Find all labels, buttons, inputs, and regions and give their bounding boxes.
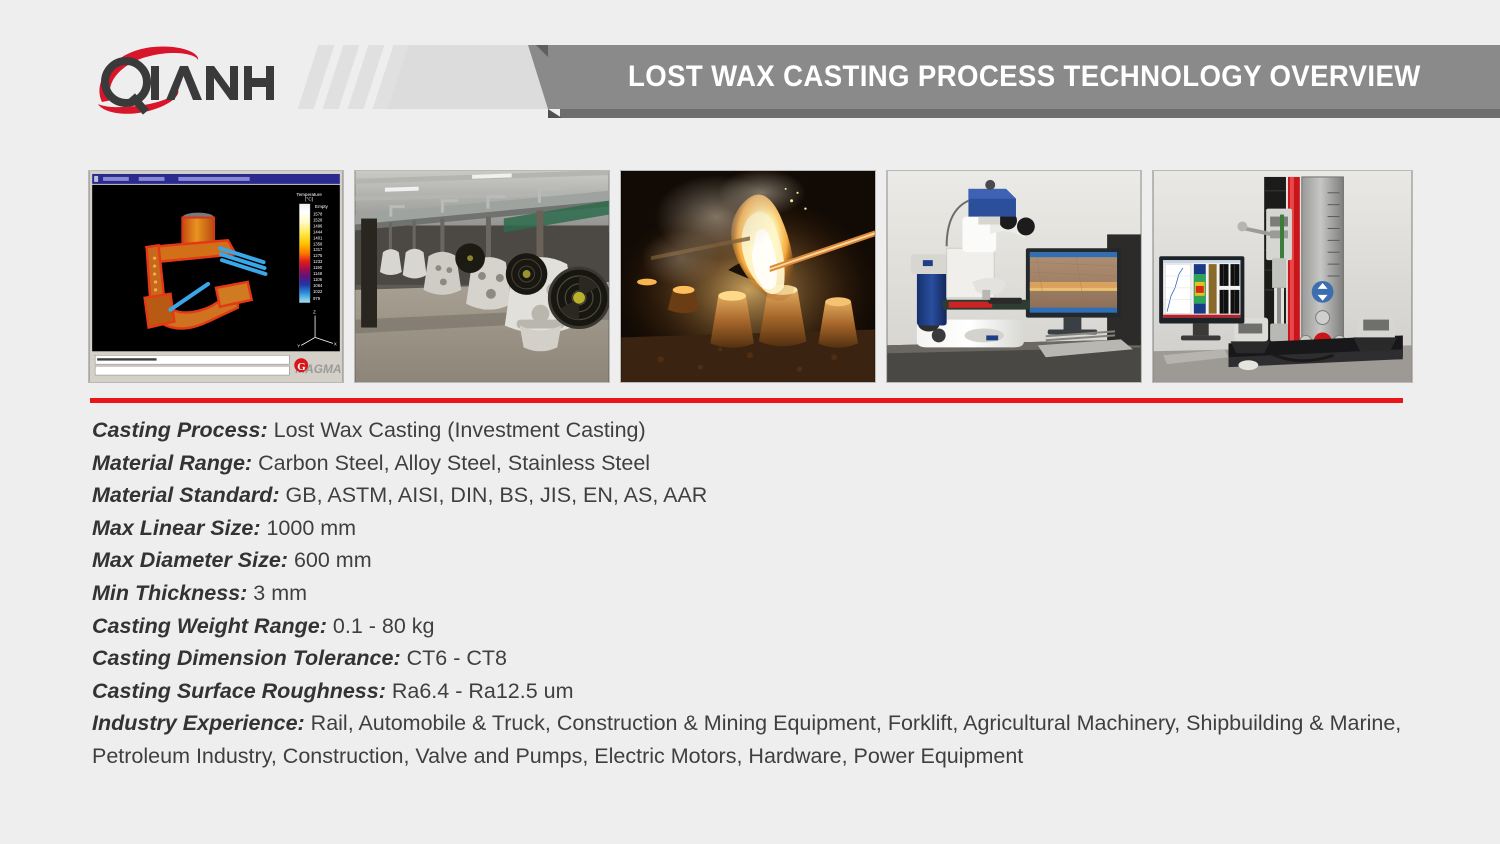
- spec-item-industry-experience: Industry Experience: Rail, Automobile & …: [92, 707, 1452, 772]
- spec-item-material-standard: Material Standard: GB, ASTM, AISI, DIN, …: [92, 479, 1452, 512]
- svg-text:979: 979: [313, 296, 321, 301]
- banner-fold-bottom: [548, 109, 562, 118]
- universal-testing-machine-photo: [1152, 170, 1413, 383]
- svg-text:1578: 1578: [313, 212, 323, 217]
- spec-label: Casting Weight Range:: [92, 614, 327, 638]
- svg-text:1233: 1233: [313, 259, 323, 264]
- spec-value: 0.1 - 80 kg: [327, 614, 435, 638]
- spec-value: GB, ASTM, AISI, DIN, BS, JIS, EN, AS, AA…: [280, 483, 708, 507]
- shell-drying-line-photo: [354, 170, 610, 383]
- spec-item-casting-weight-range: Casting Weight Range: 0.1 - 80 kg: [92, 610, 1452, 643]
- svg-text:1401: 1401: [313, 235, 323, 240]
- svg-text:1190: 1190: [313, 265, 323, 270]
- svg-text:1106: 1106: [313, 277, 323, 282]
- svg-text:Z: Z: [313, 310, 316, 315]
- spec-label: Max Diameter Size:: [92, 548, 288, 572]
- specification-list: Casting Process: Lost Wax Casting (Inves…: [92, 414, 1452, 773]
- spec-item-max-linear-size: Max Linear Size: 1000 mm: [92, 512, 1452, 545]
- spec-label: Casting Process:: [92, 418, 268, 442]
- svg-text:1148: 1148: [313, 271, 323, 276]
- spec-item-casting-surface-roughness: Casting Surface Roughness: Ra6.4 - Ra12.…: [92, 675, 1452, 708]
- svg-text:G: G: [297, 361, 306, 373]
- spec-value: Carbon Steel, Alloy Steel, Stainless Ste…: [252, 451, 650, 475]
- page-title: LOST WAX CASTING PROCESS TECHNOLOGY OVER…: [628, 45, 1421, 109]
- svg-text:1064: 1064: [313, 283, 323, 288]
- spec-label: Material Range:: [92, 451, 252, 475]
- spec-item-casting-process: Casting Process: Lost Wax Casting (Inves…: [92, 414, 1452, 447]
- spec-label: Industry Experience:: [92, 711, 305, 735]
- spec-item-max-diameter-size: Max Diameter Size: 600 mm: [92, 544, 1452, 577]
- metallurgical-microscope-photo: [886, 170, 1142, 383]
- svg-text:1022: 1022: [313, 289, 323, 294]
- spec-label: Casting Dimension Tolerance:: [92, 646, 401, 670]
- spec-value: CT6 - CT8: [401, 646, 507, 670]
- red-divider: [90, 398, 1403, 403]
- spec-label: Min Thickness:: [92, 581, 247, 605]
- svg-text:1496: 1496: [313, 223, 323, 228]
- banner-shadow: [560, 109, 1500, 118]
- page-header: LOST WAX CASTING PROCESS TECHNOLOGY OVER…: [0, 0, 1500, 145]
- svg-text:Empty: Empty: [315, 204, 329, 209]
- spec-label: Max Linear Size:: [92, 516, 260, 540]
- svg-text:[°C]: [°C]: [305, 197, 313, 202]
- spec-value: 1000 mm: [260, 516, 356, 540]
- svg-text:Y: Y: [297, 343, 300, 348]
- spec-value: Lost Wax Casting (Investment Casting): [268, 418, 646, 442]
- spec-item-min-thickness: Min Thickness: 3 mm: [92, 577, 1452, 610]
- svg-text:1317: 1317: [313, 247, 323, 252]
- svg-text:1444: 1444: [313, 229, 323, 234]
- svg-text:1528: 1528: [313, 218, 323, 223]
- logo-mark: [88, 40, 298, 118]
- magma-simulation-screenshot: Temperature [°C] Empty 15781528 14961444…: [88, 170, 344, 383]
- spec-item-material-range: Material Range: Carbon Steel, Alloy Stee…: [92, 447, 1452, 480]
- photo-strip: Temperature [°C] Empty 15781528 14961444…: [88, 170, 1413, 383]
- metal-pouring-photo: [620, 170, 876, 383]
- svg-text:1358: 1358: [313, 241, 323, 246]
- svg-text:X: X: [334, 341, 337, 346]
- svg-text:1275: 1275: [313, 253, 323, 258]
- spec-label: Material Standard:: [92, 483, 280, 507]
- spec-item-casting-dimension-tolerance: Casting Dimension Tolerance: CT6 - CT8: [92, 642, 1452, 675]
- spec-value: 600 mm: [288, 548, 372, 572]
- spec-label: Casting Surface Roughness:: [92, 679, 386, 703]
- spec-value: 3 mm: [247, 581, 307, 605]
- qianhao-logo: [88, 40, 298, 118]
- spec-value: Ra6.4 - Ra12.5 um: [386, 679, 574, 703]
